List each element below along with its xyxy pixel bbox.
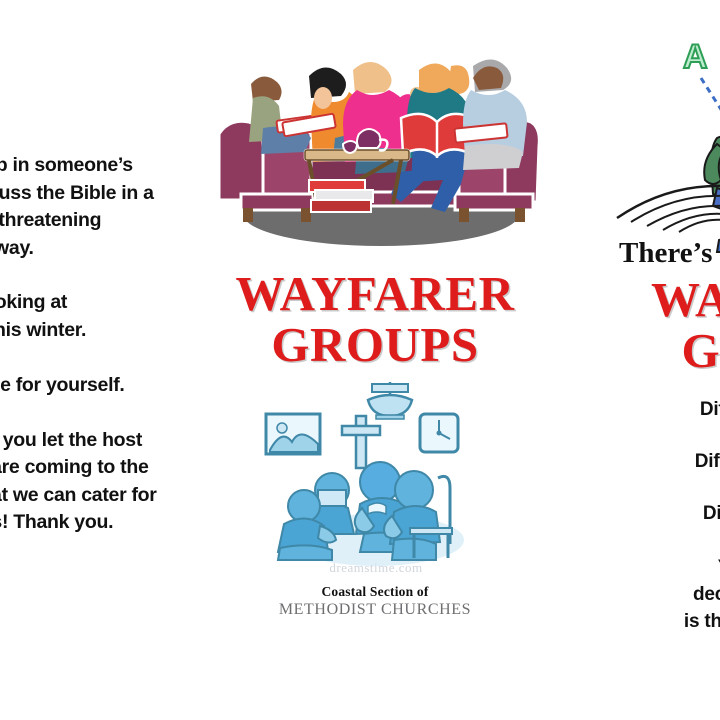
center-caption: Coastal Section of METHODIST CHURCHES <box>200 584 550 619</box>
caption-line-1: Coastal Section of <box>200 584 550 600</box>
left-paragraph-4-line-4: refreshments! Thank you. <box>0 509 162 537</box>
right-bullet-2: Different l <box>588 450 720 474</box>
center-wayfarer-title: WAYFARER GROUPS <box>200 268 550 370</box>
center-column: WAYFARER GROUPS <box>200 22 550 619</box>
left-paragraph-1-line-3: relaxed, non threatening <box>0 207 162 235</box>
left-column-heading: What is it? <box>0 100 162 122</box>
slide-canvas: What is it? A small group in someone’s h… <box>0 0 720 720</box>
center-title-line-2: GROUPS <box>200 319 550 370</box>
caption-line-2: METHODIST CHURCHES <box>200 601 550 619</box>
right-closing-line-2: decide wh <box>588 581 720 608</box>
right-wayfarer-title: WAYFA GRO <box>588 274 720 376</box>
right-bullet-1: Different <box>588 398 720 422</box>
left-paragraph-1-line-1: A small group in someone’s <box>0 152 162 180</box>
left-paragraph-1-line-4: and friendly way. <box>0 235 162 263</box>
left-paragraph-4-line-3: group, so that we can cater for <box>0 482 162 510</box>
right-title-line-2: GRO <box>588 325 720 376</box>
right-column: A B There’s a Sm WAYFA GRO <box>588 18 720 635</box>
left-paragraph-2-line-2: Philippians this winter. <box>0 317 162 345</box>
left-text-column: What is it? A small group in someone’s h… <box>0 100 162 537</box>
right-closing-text: YOU decide wh is the best o <box>588 554 720 635</box>
paragraph-spacer-1 <box>0 262 162 289</box>
left-paragraph-2-line-1: We will be looking at <box>0 289 162 317</box>
left-paragraph-4-line-1: Please could you let the host <box>0 427 162 455</box>
left-paragraph-4-line-2: know if you are coming to the <box>0 454 162 482</box>
paragraph-spacer-3 <box>0 400 162 427</box>
left-paragraph-1-line-2: home to discuss the Bible in a <box>0 180 162 208</box>
right-bullet-list: Different Different l Differen <box>588 398 720 526</box>
clipart-tagline: There’s a Sm <box>619 237 720 266</box>
svg-text:dreamstime.com: dreamstime.com <box>329 560 422 575</box>
right-bullet-3: Differen <box>588 502 720 526</box>
right-closing-line-1: YOU <box>588 554 720 581</box>
right-closing-line-3: is the best o <box>588 608 720 635</box>
paragraph-spacer-2 <box>0 344 162 372</box>
floating-letter-a: A <box>683 38 708 76</box>
theres-a-small-group-for-you-clipart: A B There’s a Sm <box>613 18 720 266</box>
bible-study-figures-clipart: dreamstime.com <box>264 382 486 582</box>
center-title-line-1: WAYFARER <box>200 268 550 319</box>
right-title-line-1: WAYFA <box>588 274 720 325</box>
left-paragraph-3-line-1: Come and see for yourself. <box>0 372 162 400</box>
small-group-sofa-clipart <box>205 22 545 254</box>
